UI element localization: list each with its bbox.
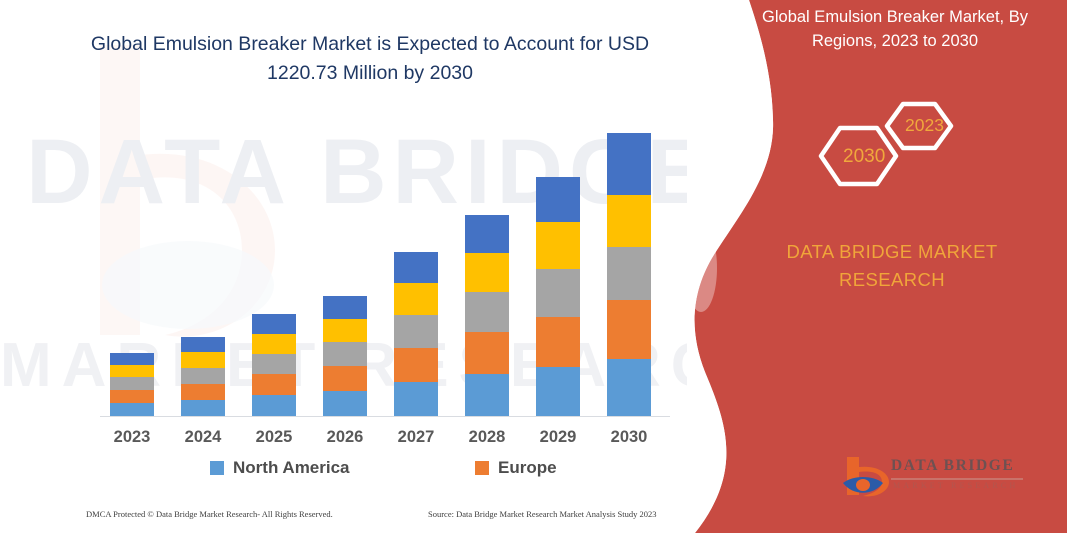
logo-divider [891, 478, 1023, 480]
x-axis-line [100, 416, 670, 417]
bar-segment-2028-1 [465, 374, 509, 416]
logo-secondary-text: MARKET RESEARCH [893, 481, 1018, 490]
x-label-2030: 2030 [594, 428, 664, 447]
bar-2028 [465, 215, 509, 416]
bar-segment-2028-2 [465, 332, 509, 374]
bar-segment-2027-4 [394, 283, 438, 315]
data-bridge-logo: DATA BRIDGE MARKET RESEARCH [839, 455, 1029, 503]
footer-copyright: DMCA Protected © Data Bridge Market Rese… [86, 509, 333, 519]
bar-segment-2023-1 [110, 403, 154, 416]
bar-segment-2029-5 [536, 177, 580, 222]
bar-segment-2025-5 [252, 314, 296, 334]
chart-plot-area: 20232024202520262027202820292030 North A… [0, 0, 740, 533]
footer: DMCA Protected © Data Bridge Market Rese… [0, 507, 710, 527]
bar-segment-2023-3 [110, 377, 154, 390]
bar-2030 [607, 133, 651, 416]
bar-segment-2025-1 [252, 395, 296, 416]
bar-segment-2027-3 [394, 315, 438, 348]
bar-segment-2026-5 [323, 296, 367, 319]
legend-item-north-america[interactable]: North America [210, 458, 350, 478]
bar-segment-2030-5 [607, 133, 651, 195]
infographic-canvas: DATA BRIDGE MARKET RESEARCH Global Emuls… [0, 0, 1067, 533]
chart-legend: North AmericaEurope [100, 456, 670, 482]
hexagon-2023-shape [887, 104, 951, 148]
right-panel-title: Global Emulsion Breaker Market, By Regio… [745, 6, 1045, 54]
bar-segment-2028-4 [465, 253, 509, 292]
bar-segment-2025-3 [252, 354, 296, 374]
bar-segment-2029-1 [536, 367, 580, 416]
bar-2023 [110, 353, 154, 416]
right-panel-brand: DATA BRIDGE MARKET RESEARCH [747, 238, 1037, 294]
bar-2025 [252, 314, 296, 416]
bar-segment-2026-1 [323, 391, 367, 416]
bar-segment-2030-4 [607, 195, 651, 247]
bar-segment-2026-2 [323, 366, 367, 391]
footer-source: Source: Data Bridge Market Research Mark… [428, 509, 657, 519]
bar-segment-2025-2 [252, 374, 296, 395]
hexagon-label-2030: 2030 [843, 146, 885, 168]
x-label-2023: 2023 [97, 428, 167, 447]
right-panel: Global Emulsion Breaker Market, By Regio… [687, 0, 1067, 533]
bar-2026 [323, 296, 367, 416]
bar-segment-2023-4 [110, 365, 154, 377]
bar-segment-2027-5 [394, 252, 438, 283]
bar-segment-2030-3 [607, 247, 651, 300]
legend-label: Europe [498, 458, 557, 478]
x-label-2029: 2029 [523, 428, 593, 447]
bar-segment-2029-4 [536, 222, 580, 269]
hexagon-label-2023: 2023 [905, 115, 944, 136]
x-axis-labels: 20232024202520262027202820292030 [100, 428, 670, 454]
bar-segment-2026-4 [323, 319, 367, 342]
bar-segment-2025-4 [252, 334, 296, 354]
legend-swatch-icon [210, 461, 224, 475]
bar-segment-2029-2 [536, 317, 580, 367]
legend-item-europe[interactable]: Europe [475, 458, 557, 478]
bar-segment-2024-5 [181, 337, 225, 352]
bar-segment-2027-2 [394, 348, 438, 382]
bar-2029 [536, 177, 580, 416]
bar-segment-2028-3 [465, 292, 509, 332]
legend-swatch-icon [475, 461, 489, 475]
bar-2024 [181, 337, 225, 416]
bar-segment-2024-4 [181, 352, 225, 368]
hexagon-2030-shape [821, 128, 896, 184]
bar-segment-2029-3 [536, 269, 580, 317]
x-label-2028: 2028 [452, 428, 522, 447]
logo-primary-text: DATA BRIDGE [891, 457, 1014, 475]
x-label-2025: 2025 [239, 428, 309, 447]
bar-segment-2028-5 [465, 215, 509, 253]
hexagon-badges: 2030 2023 [807, 90, 1007, 210]
x-label-2027: 2027 [381, 428, 451, 447]
bar-segment-2024-3 [181, 368, 225, 384]
x-label-2024: 2024 [168, 428, 238, 447]
bar-segment-2023-5 [110, 353, 154, 365]
bar-segment-2030-1 [607, 359, 651, 416]
bar-segment-2027-1 [394, 382, 438, 416]
bar-segment-2030-2 [607, 300, 651, 359]
legend-label: North America [233, 458, 350, 478]
x-label-2026: 2026 [310, 428, 380, 447]
bar-2027 [394, 252, 438, 416]
bar-segment-2024-2 [181, 384, 225, 400]
bar-segment-2026-3 [323, 342, 367, 366]
bar-segment-2023-2 [110, 390, 154, 403]
bar-segment-2024-1 [181, 400, 225, 416]
